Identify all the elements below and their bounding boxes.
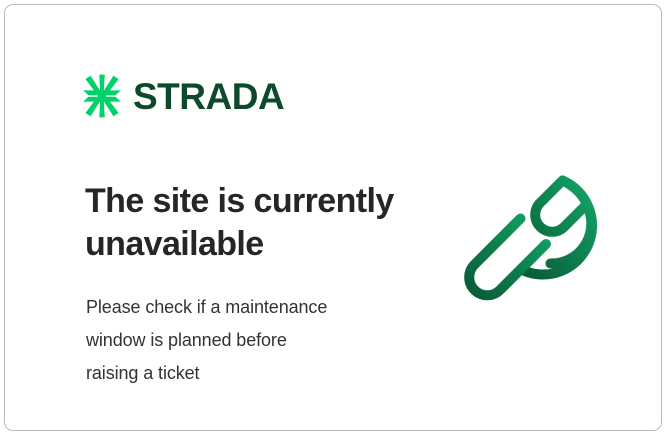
description-line: window is planned before: [86, 324, 396, 357]
strada-asterisk-icon: [81, 74, 123, 118]
description-line: raising a ticket: [86, 357, 396, 390]
brand-lockup: STRADA: [81, 74, 284, 118]
description-line: Please check if a maintenance: [86, 291, 396, 324]
status-card: STRADA The site is currently unavailable…: [4, 4, 662, 431]
page-title: The site is currently unavailable: [85, 180, 415, 266]
error-page: STRADA The site is currently unavailable…: [0, 0, 666, 436]
page-description: Please check if a maintenance window is …: [86, 291, 396, 390]
wrench-icon: [457, 161, 623, 319]
brand-wordmark: STRADA: [133, 78, 284, 115]
